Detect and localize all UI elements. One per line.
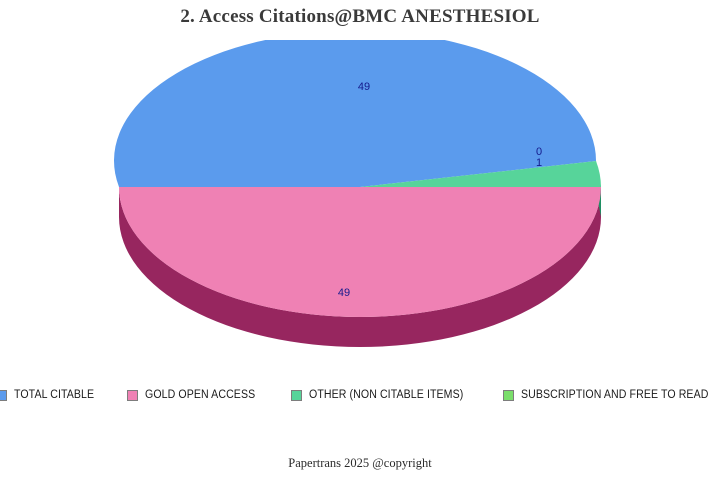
pie-chart: 49 49 0 1 <box>0 40 720 370</box>
page-title: 2. Access Citations@BMC ANESTHESIOL <box>0 6 720 28</box>
legend-item-label: OTHER (NON CITABLE ITEMS) <box>309 389 463 401</box>
legend-item-other-non-citable[interactable]: OTHER (NON CITABLE ITEMS) <box>291 389 477 401</box>
slice-label-gold-open-access: 49 <box>338 287 350 299</box>
legend-item-gold-open-access[interactable]: GOLD OPEN ACCESS <box>127 389 265 401</box>
legend-item-subscription-free-to-read[interactable]: SUBSCRIPTION AND FREE TO READ <box>503 389 720 401</box>
legend-swatch-icon <box>0 390 7 401</box>
legend-swatch-icon <box>291 390 302 401</box>
footer-copyright: Papertrans 2025 @copyright <box>0 456 720 471</box>
slice-label-total-citable: 49 <box>358 81 370 93</box>
legend-swatch-icon <box>127 390 138 401</box>
slice-total-citable <box>114 40 596 187</box>
pie-chart-svg: 49 49 0 1 <box>0 40 720 370</box>
legend-item-label: TOTAL CITABLE <box>14 389 94 401</box>
legend-item-label: SUBSCRIPTION AND FREE TO READ <box>521 389 708 401</box>
legend-swatch-icon <box>503 390 514 401</box>
legend-item-total-citable[interactable]: TOTAL CITABLE <box>0 389 101 401</box>
legend-item-label: GOLD OPEN ACCESS <box>145 389 255 401</box>
slice-label-other-non-citable: 1 <box>536 157 542 169</box>
chart-legend: TOTAL CITABLE GOLD OPEN ACCESS OTHER (NO… <box>0 386 720 404</box>
